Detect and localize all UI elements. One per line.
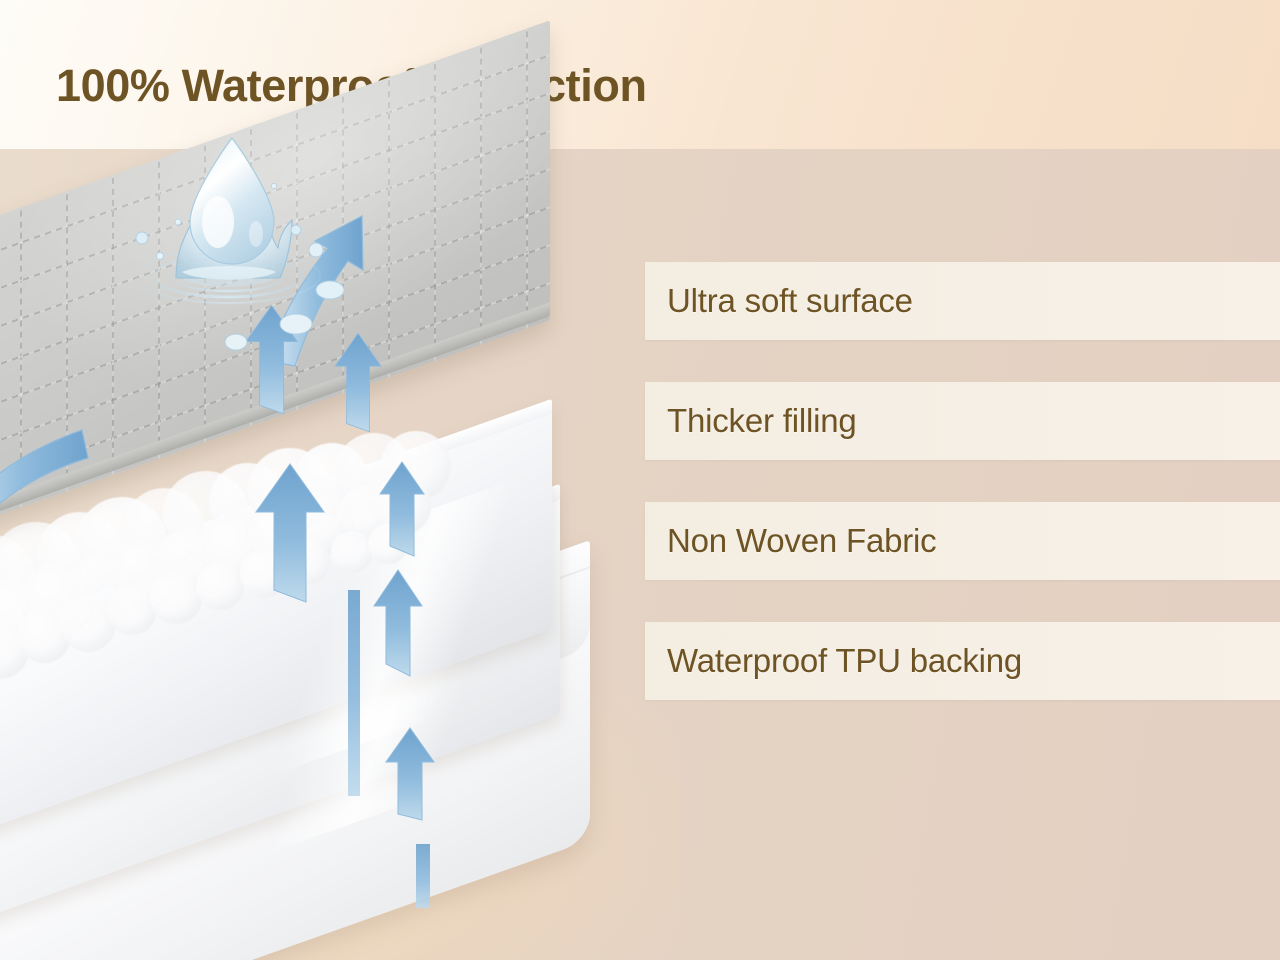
infographic-canvas: 100% Waterproof Protection Ultra soft su… [0, 0, 1280, 960]
fiber-fill-tuft [196, 562, 244, 610]
feature-band-non-woven-fabric: Non Woven Fabric [645, 502, 1280, 580]
feature-label: Non Woven Fabric [667, 522, 936, 560]
fiber-fill-tuft [150, 572, 202, 624]
feature-band-waterproof-tpu-backing: Waterproof TPU backing [645, 622, 1280, 700]
feature-band-thicker-filling: Thicker filling [645, 382, 1280, 460]
water-droplet [190, 138, 274, 264]
water-droplet-group [120, 130, 380, 360]
fiber-fill-tuft [331, 531, 373, 573]
fiber-fill-tuft [368, 524, 408, 564]
feature-label: Waterproof TPU backing [667, 642, 1022, 680]
fiber-fill-tuft [286, 540, 330, 584]
feature-label: Thicker filling [667, 402, 857, 440]
fiber-fill-tuft [240, 550, 288, 598]
feature-band-ultra-soft-surface: Ultra soft surface [645, 262, 1280, 340]
feature-label: Ultra soft surface [667, 282, 913, 320]
